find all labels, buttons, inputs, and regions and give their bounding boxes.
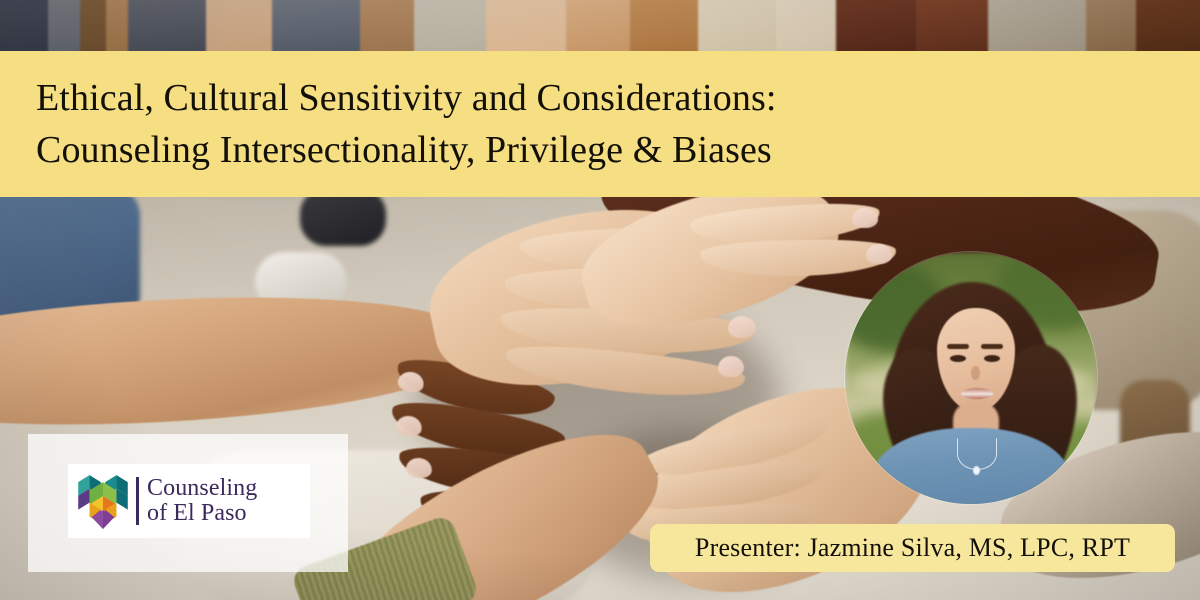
presenter-text: Presenter: Jazmine Silva, MS, LPC, RPT (695, 533, 1130, 563)
portrait-mouth (961, 388, 993, 399)
title-banner: Ethical, Cultural Sensitivity and Consid… (0, 51, 1200, 197)
portrait-eye-right (984, 355, 1000, 362)
presenter-badge: Presenter: Jazmine Silva, MS, LPC, RPT (650, 524, 1175, 572)
portrait-eye-left (950, 355, 966, 362)
logo-plate: Counseling of El Paso (68, 464, 310, 538)
nail-pale-3 (728, 316, 756, 338)
portrait-pendant (973, 466, 980, 475)
nail-upper-1 (852, 208, 878, 228)
presenter-portrait (845, 252, 1097, 504)
nail-pale-4 (718, 356, 744, 377)
portrait-nose (971, 366, 980, 380)
event-poster: Ethical, Cultural Sensitivity and Consid… (0, 0, 1200, 600)
logo-line-2: of El Paso (147, 501, 257, 526)
logo-line-1: Counseling (147, 476, 257, 501)
title-line-1: Ethical, Cultural Sensitivity and Consid… (36, 72, 1200, 124)
heart-diamond-logo-icon (76, 473, 130, 529)
logo-wordmark: Counseling of El Paso (147, 476, 257, 526)
portrait-brow-right (981, 344, 1003, 349)
portrait-brow-left (947, 344, 969, 349)
title-line-2: Counseling Intersectionality, Privilege … (36, 124, 1200, 176)
logo-divider-bar (136, 477, 139, 525)
